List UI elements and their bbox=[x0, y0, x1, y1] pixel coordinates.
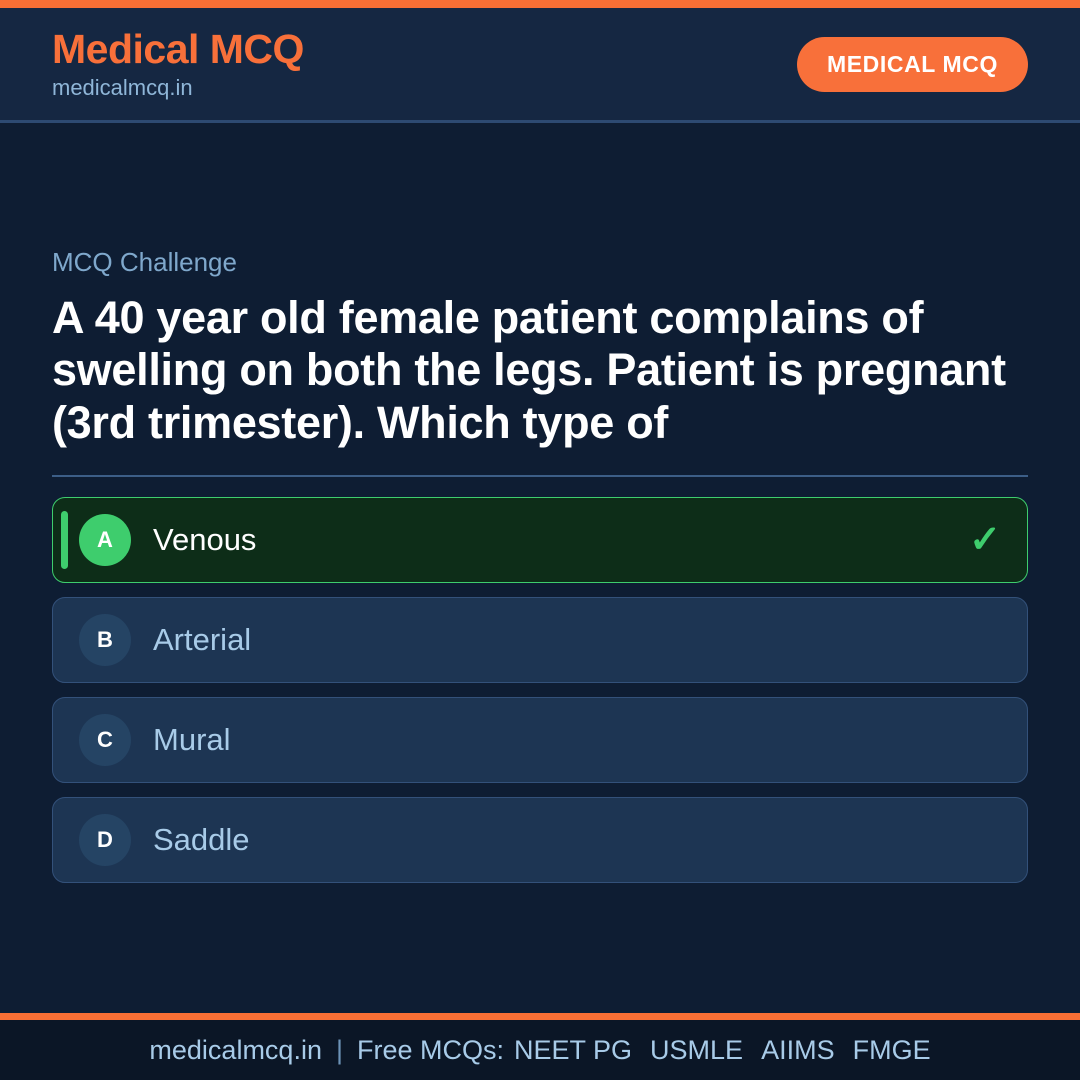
option-letter-badge: D bbox=[79, 814, 131, 866]
footer-label: Free MCQs: bbox=[357, 1034, 504, 1066]
footer-tag-fmge: FMGE bbox=[853, 1034, 931, 1066]
mcq-card: Medical MCQ medicalmcq.in MEDICAL MCQ MC… bbox=[0, 0, 1080, 1080]
option-letter-badge: C bbox=[79, 714, 131, 766]
footer-site[interactable]: medicalmcq.in bbox=[149, 1034, 322, 1066]
brand-subtitle: medicalmcq.in bbox=[52, 74, 304, 102]
option-c[interactable]: C Mural bbox=[52, 697, 1028, 783]
option-label: Arterial bbox=[153, 621, 251, 658]
footer-separator: | bbox=[322, 1035, 357, 1066]
option-letter-badge: B bbox=[79, 614, 131, 666]
options-list: A Venous ✓ B Arterial C Mural D Saddle bbox=[52, 497, 1028, 883]
footer-tag-usmle: USMLE bbox=[650, 1034, 743, 1066]
main-content: MCQ Challenge A 40 year old female patie… bbox=[0, 123, 1080, 1013]
option-a[interactable]: A Venous ✓ bbox=[52, 497, 1028, 583]
footer-accent-bar bbox=[0, 1013, 1080, 1020]
kicker-label: MCQ Challenge bbox=[52, 247, 1028, 278]
correct-accent-bar bbox=[61, 511, 68, 569]
check-icon: ✓ bbox=[969, 521, 1001, 559]
question-divider bbox=[52, 475, 1028, 477]
option-letter-badge: A bbox=[79, 514, 131, 566]
brand: Medical MCQ medicalmcq.in bbox=[52, 27, 304, 102]
page-footer: medicalmcq.in | Free MCQs: NEET PG USMLE… bbox=[0, 1020, 1080, 1080]
footer-tag-aiims: AIIMS bbox=[761, 1034, 835, 1066]
option-b[interactable]: B Arterial bbox=[52, 597, 1028, 683]
option-label: Mural bbox=[153, 721, 231, 758]
option-label: Venous bbox=[153, 521, 256, 558]
brand-title: Medical MCQ bbox=[52, 27, 304, 72]
footer-tags: NEET PG USMLE AIIMS FMGE bbox=[514, 1034, 931, 1066]
question-text: A 40 year old female patient complains o… bbox=[52, 292, 1028, 449]
page-header: Medical MCQ medicalmcq.in MEDICAL MCQ bbox=[0, 8, 1080, 123]
header-badge: MEDICAL MCQ bbox=[797, 37, 1028, 92]
option-d[interactable]: D Saddle bbox=[52, 797, 1028, 883]
footer-tag-neetpg: NEET PG bbox=[514, 1034, 632, 1066]
top-accent-bar bbox=[0, 0, 1080, 8]
option-label: Saddle bbox=[153, 821, 250, 858]
